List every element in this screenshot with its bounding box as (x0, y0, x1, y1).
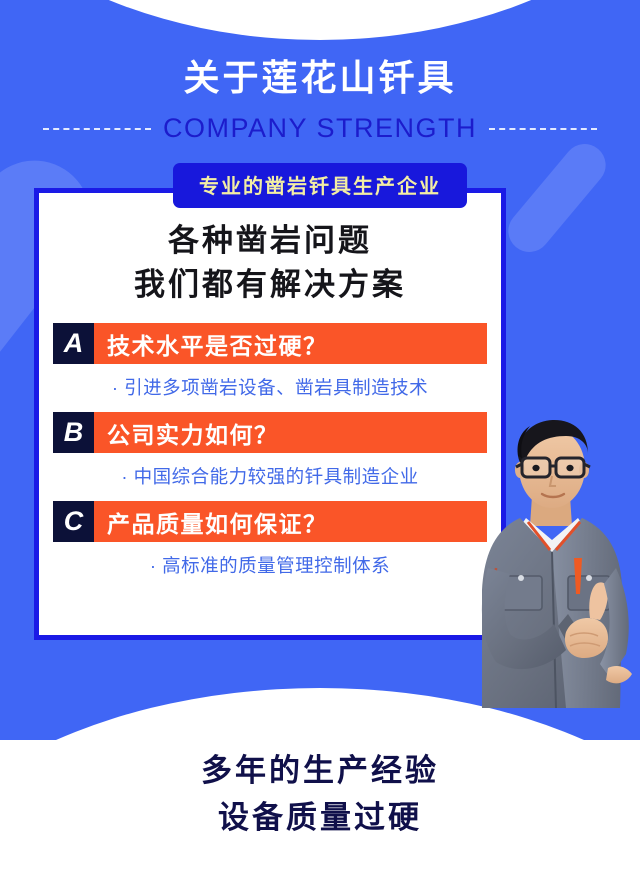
qa-bar-c: C 产品质量如何保证？ (53, 501, 487, 542)
bottom-white-arc-shape (0, 688, 640, 740)
qa-question-b: 公司实力如何？ (94, 416, 279, 450)
qa-answer-a: · 引进多项凿岩设备、凿岩具制造技术 (39, 374, 501, 400)
card-heading-line-1: 各种凿岩问题 (39, 219, 501, 263)
footer-line-2: 设备质量过硬 (0, 795, 640, 842)
qa-item-b: B 公司实力如何？ · 中国综合能力较强的钎具制造企业 (39, 412, 501, 489)
qa-bar-a: A 技术水平是否过硬？ (53, 323, 487, 364)
card-heading: 各种凿岩问题 我们都有解决方案 (39, 219, 501, 307)
qa-letter-badge-a: A (53, 323, 94, 364)
footer-line-1: 多年的生产经验 (0, 748, 640, 795)
qa-letter-badge-b: B (53, 412, 94, 453)
subtitle-row: COMPANY STRENGTH (0, 113, 640, 144)
page-subtitle: COMPANY STRENGTH (163, 113, 477, 144)
dashed-rule-right (489, 128, 597, 130)
poster-header: 关于莲花山钎具 COMPANY STRENGTH (0, 0, 640, 144)
qa-item-a: A 技术水平是否过硬？ · 引进多项凿岩设备、凿岩具制造技术 (39, 323, 501, 400)
dashed-rule-left (43, 128, 151, 130)
card-heading-line-2: 我们都有解决方案 (39, 263, 501, 307)
qa-question-c: 产品质量如何保证？ (94, 505, 328, 539)
qa-letter-badge-c: C (53, 501, 94, 542)
qa-question-a: 技术水平是否过硬？ (94, 327, 328, 361)
qa-answer-c: · 高标准的质量管理控制体系 (39, 552, 501, 578)
poster-root: 关于莲花山钎具 COMPANY STRENGTH 各种凿岩问题 我们都有解决方案… (0, 0, 640, 884)
page-title: 关于莲花山钎具 (0, 56, 640, 99)
qa-answer-b: · 中国综合能力较强的钎具制造企业 (39, 463, 501, 489)
poster-footer: 多年的生产经验 设备质量过硬 (0, 748, 640, 841)
status-badge: 专业的凿岩钎具生产企业 (173, 163, 467, 208)
qa-item-c: C 产品质量如何保证？ · 高标准的质量管理控制体系 (39, 501, 501, 578)
content-card: 各种凿岩问题 我们都有解决方案 A 技术水平是否过硬？ · 引进多项凿岩设备、凿… (34, 188, 506, 640)
qa-bar-b: B 公司实力如何？ (53, 412, 487, 453)
qa-item-list: A 技术水平是否过硬？ · 引进多项凿岩设备、凿岩具制造技术 B 公司实力如何？… (39, 323, 501, 578)
decorative-lozenge-right (500, 135, 614, 260)
